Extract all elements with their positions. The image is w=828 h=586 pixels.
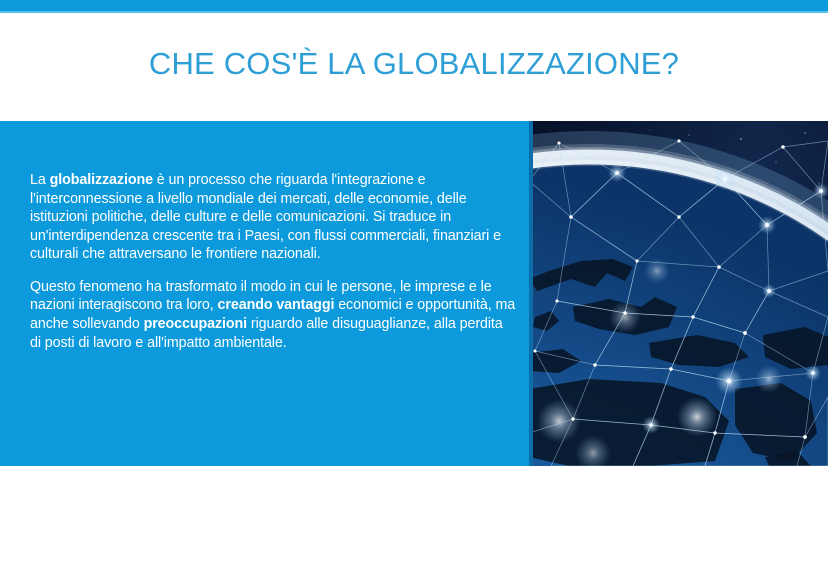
paragraph-2: Questo fenomeno ha trasformato il modo i…: [30, 278, 517, 352]
paragraph-1-segment-1: La: [30, 172, 50, 188]
content-panel: La globalizzazione è un processo che rig…: [0, 121, 533, 466]
top-accent-bar-edge: [0, 11, 828, 13]
paragraph-2-emphasis-creando-vantaggi: creando vantaggi: [218, 297, 335, 313]
earth-network-globe-image: [529, 121, 828, 466]
paragraph-2-emphasis-preoccupazioni: preoccupazioni: [144, 316, 247, 332]
paragraph-1: La globalizzazione è un processo che rig…: [30, 171, 517, 264]
page-title: CHE COS'È LA GLOBALIZZAZIONE?: [0, 46, 828, 82]
body-text-block: La globalizzazione è un processo che rig…: [30, 171, 517, 352]
globe-illustration: [529, 121, 828, 466]
image-left-edge-strip: [529, 121, 533, 466]
top-accent-bar: [0, 0, 828, 11]
paragraph-1-emphasis-globalizzazione: globalizzazione: [50, 172, 153, 188]
